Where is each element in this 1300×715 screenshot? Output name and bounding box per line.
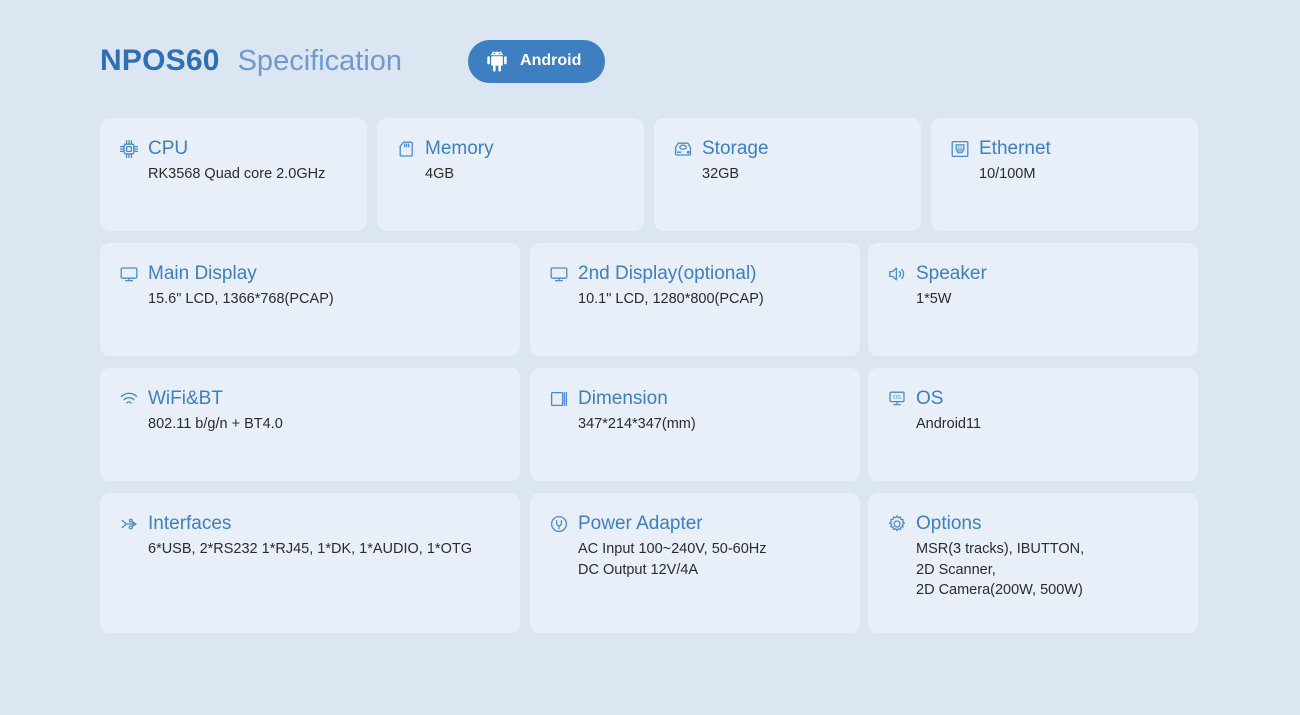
monitor-icon: [548, 263, 570, 285]
page-title-subtitle: Specification: [238, 47, 402, 76]
card-title: 2nd Display(optional): [578, 264, 757, 285]
card-title: Main Display: [148, 264, 257, 285]
card-value: 802.11 b/g/n + BT4.0: [148, 414, 502, 435]
card-title: Ethernet: [979, 139, 1051, 160]
spec-card-storage: Storage 32GB: [654, 118, 921, 231]
spec-card-memory: Memory 4GB: [377, 118, 644, 231]
spec-card-wifi-bt: WiFi&BT 802.11 b/g/n + BT4.0: [100, 368, 520, 481]
card-title: Speaker: [916, 264, 987, 285]
card-header: WiFi&BT: [118, 388, 502, 410]
os-badge-label: Android: [520, 53, 581, 69]
spec-card-power-adapter: Power Adapter AC Input 100~240V, 50-60Hz…: [530, 493, 860, 633]
svg-text:OS: OS: [893, 395, 901, 401]
card-title: Options: [916, 514, 981, 535]
card-value: 10/100M: [979, 164, 1180, 185]
spec-card-speaker: Speaker 1*5W: [868, 243, 1198, 356]
card-header: Main Display: [118, 263, 502, 285]
card-value: Android11: [916, 414, 1180, 435]
card-value: 15.6" LCD, 1366*768(PCAP): [148, 289, 502, 310]
spec-row: Main Display 15.6" LCD, 1366*768(PCAP) 2…: [100, 243, 1198, 356]
card-header: Power Adapter: [548, 513, 842, 535]
card-title: Memory: [425, 139, 494, 160]
page-header: NPOS60 Specification Android: [100, 38, 605, 84]
card-value: 6*USB, 2*RS232 1*RJ45, 1*DK, 1*AUDIO, 1*…: [148, 539, 502, 560]
card-value: 32GB: [702, 164, 903, 185]
usb-icon: [118, 513, 140, 535]
spec-card-dimension: Dimension 347*214*347(mm): [530, 368, 860, 481]
card-header: Interfaces: [118, 513, 502, 535]
card-header: Dimension: [548, 388, 842, 410]
spec-card-main-display: Main Display 15.6" LCD, 1366*768(PCAP): [100, 243, 520, 356]
card-value: 1*5W: [916, 289, 1180, 310]
specification-page: NPOS60 Specification Android: [0, 0, 1300, 715]
card-header: Speaker: [886, 263, 1180, 285]
hard-disk-icon: [672, 138, 694, 160]
card-header: 2nd Display(optional): [548, 263, 842, 285]
card-value: RK3568 Quad core 2.0GHz: [148, 164, 349, 185]
spec-card-cpu: CPU RK3568 Quad core 2.0GHz: [100, 118, 367, 231]
os-badge[interactable]: Android: [468, 40, 605, 83]
card-header: Storage: [672, 138, 903, 160]
card-header: Memory: [395, 138, 626, 160]
card-header: Options: [886, 513, 1180, 535]
card-value: 10.1" LCD, 1280*800(PCAP): [578, 289, 842, 310]
card-value: AC Input 100~240V, 50-60Hz DC Output 12V…: [578, 539, 842, 580]
spec-card-2nd-display: 2nd Display(optional) 10.1" LCD, 1280*80…: [530, 243, 860, 356]
wifi-icon: [118, 388, 140, 410]
speaker-icon: [886, 263, 908, 285]
sd-card-icon: [395, 138, 417, 160]
card-value: MSR(3 tracks), IBUTTON, 2D Scanner, 2D C…: [916, 539, 1180, 601]
ethernet-port-icon: [949, 138, 971, 160]
dimension-box-icon: [548, 388, 570, 410]
card-header: OS OS: [886, 388, 1180, 410]
card-value: 4GB: [425, 164, 626, 185]
card-title: Interfaces: [148, 514, 231, 535]
card-title: Dimension: [578, 389, 668, 410]
spec-card-options: Options MSR(3 tracks), IBUTTON, 2D Scann…: [868, 493, 1198, 633]
spec-row: WiFi&BT 802.11 b/g/n + BT4.0 Dimension 3…: [100, 368, 1198, 481]
cpu-chip-icon: [118, 138, 140, 160]
spec-card-ethernet: Ethernet 10/100M: [931, 118, 1198, 231]
spec-card-os: OS OS Android11: [868, 368, 1198, 481]
spec-row: Interfaces 6*USB, 2*RS232 1*RJ45, 1*DK, …: [100, 493, 1198, 633]
gear-icon: [886, 513, 908, 535]
card-title: CPU: [148, 139, 188, 160]
spec-grid: CPU RK3568 Quad core 2.0GHz Memory 4GB: [100, 118, 1198, 645]
card-title: Power Adapter: [578, 514, 703, 535]
card-title: WiFi&BT: [148, 389, 223, 410]
spec-row: CPU RK3568 Quad core 2.0GHz Memory 4GB: [100, 118, 1198, 231]
card-title: Storage: [702, 139, 769, 160]
android-icon: [486, 50, 508, 72]
card-title: OS: [916, 389, 943, 410]
page-title-model: NPOS60: [100, 46, 220, 76]
os-monitor-icon: OS: [886, 388, 908, 410]
card-header: CPU: [118, 138, 349, 160]
monitor-icon: [118, 263, 140, 285]
card-value: 347*214*347(mm): [578, 414, 842, 435]
card-header: Ethernet: [949, 138, 1180, 160]
spec-card-interfaces: Interfaces 6*USB, 2*RS232 1*RJ45, 1*DK, …: [100, 493, 520, 633]
power-plug-icon: [548, 513, 570, 535]
